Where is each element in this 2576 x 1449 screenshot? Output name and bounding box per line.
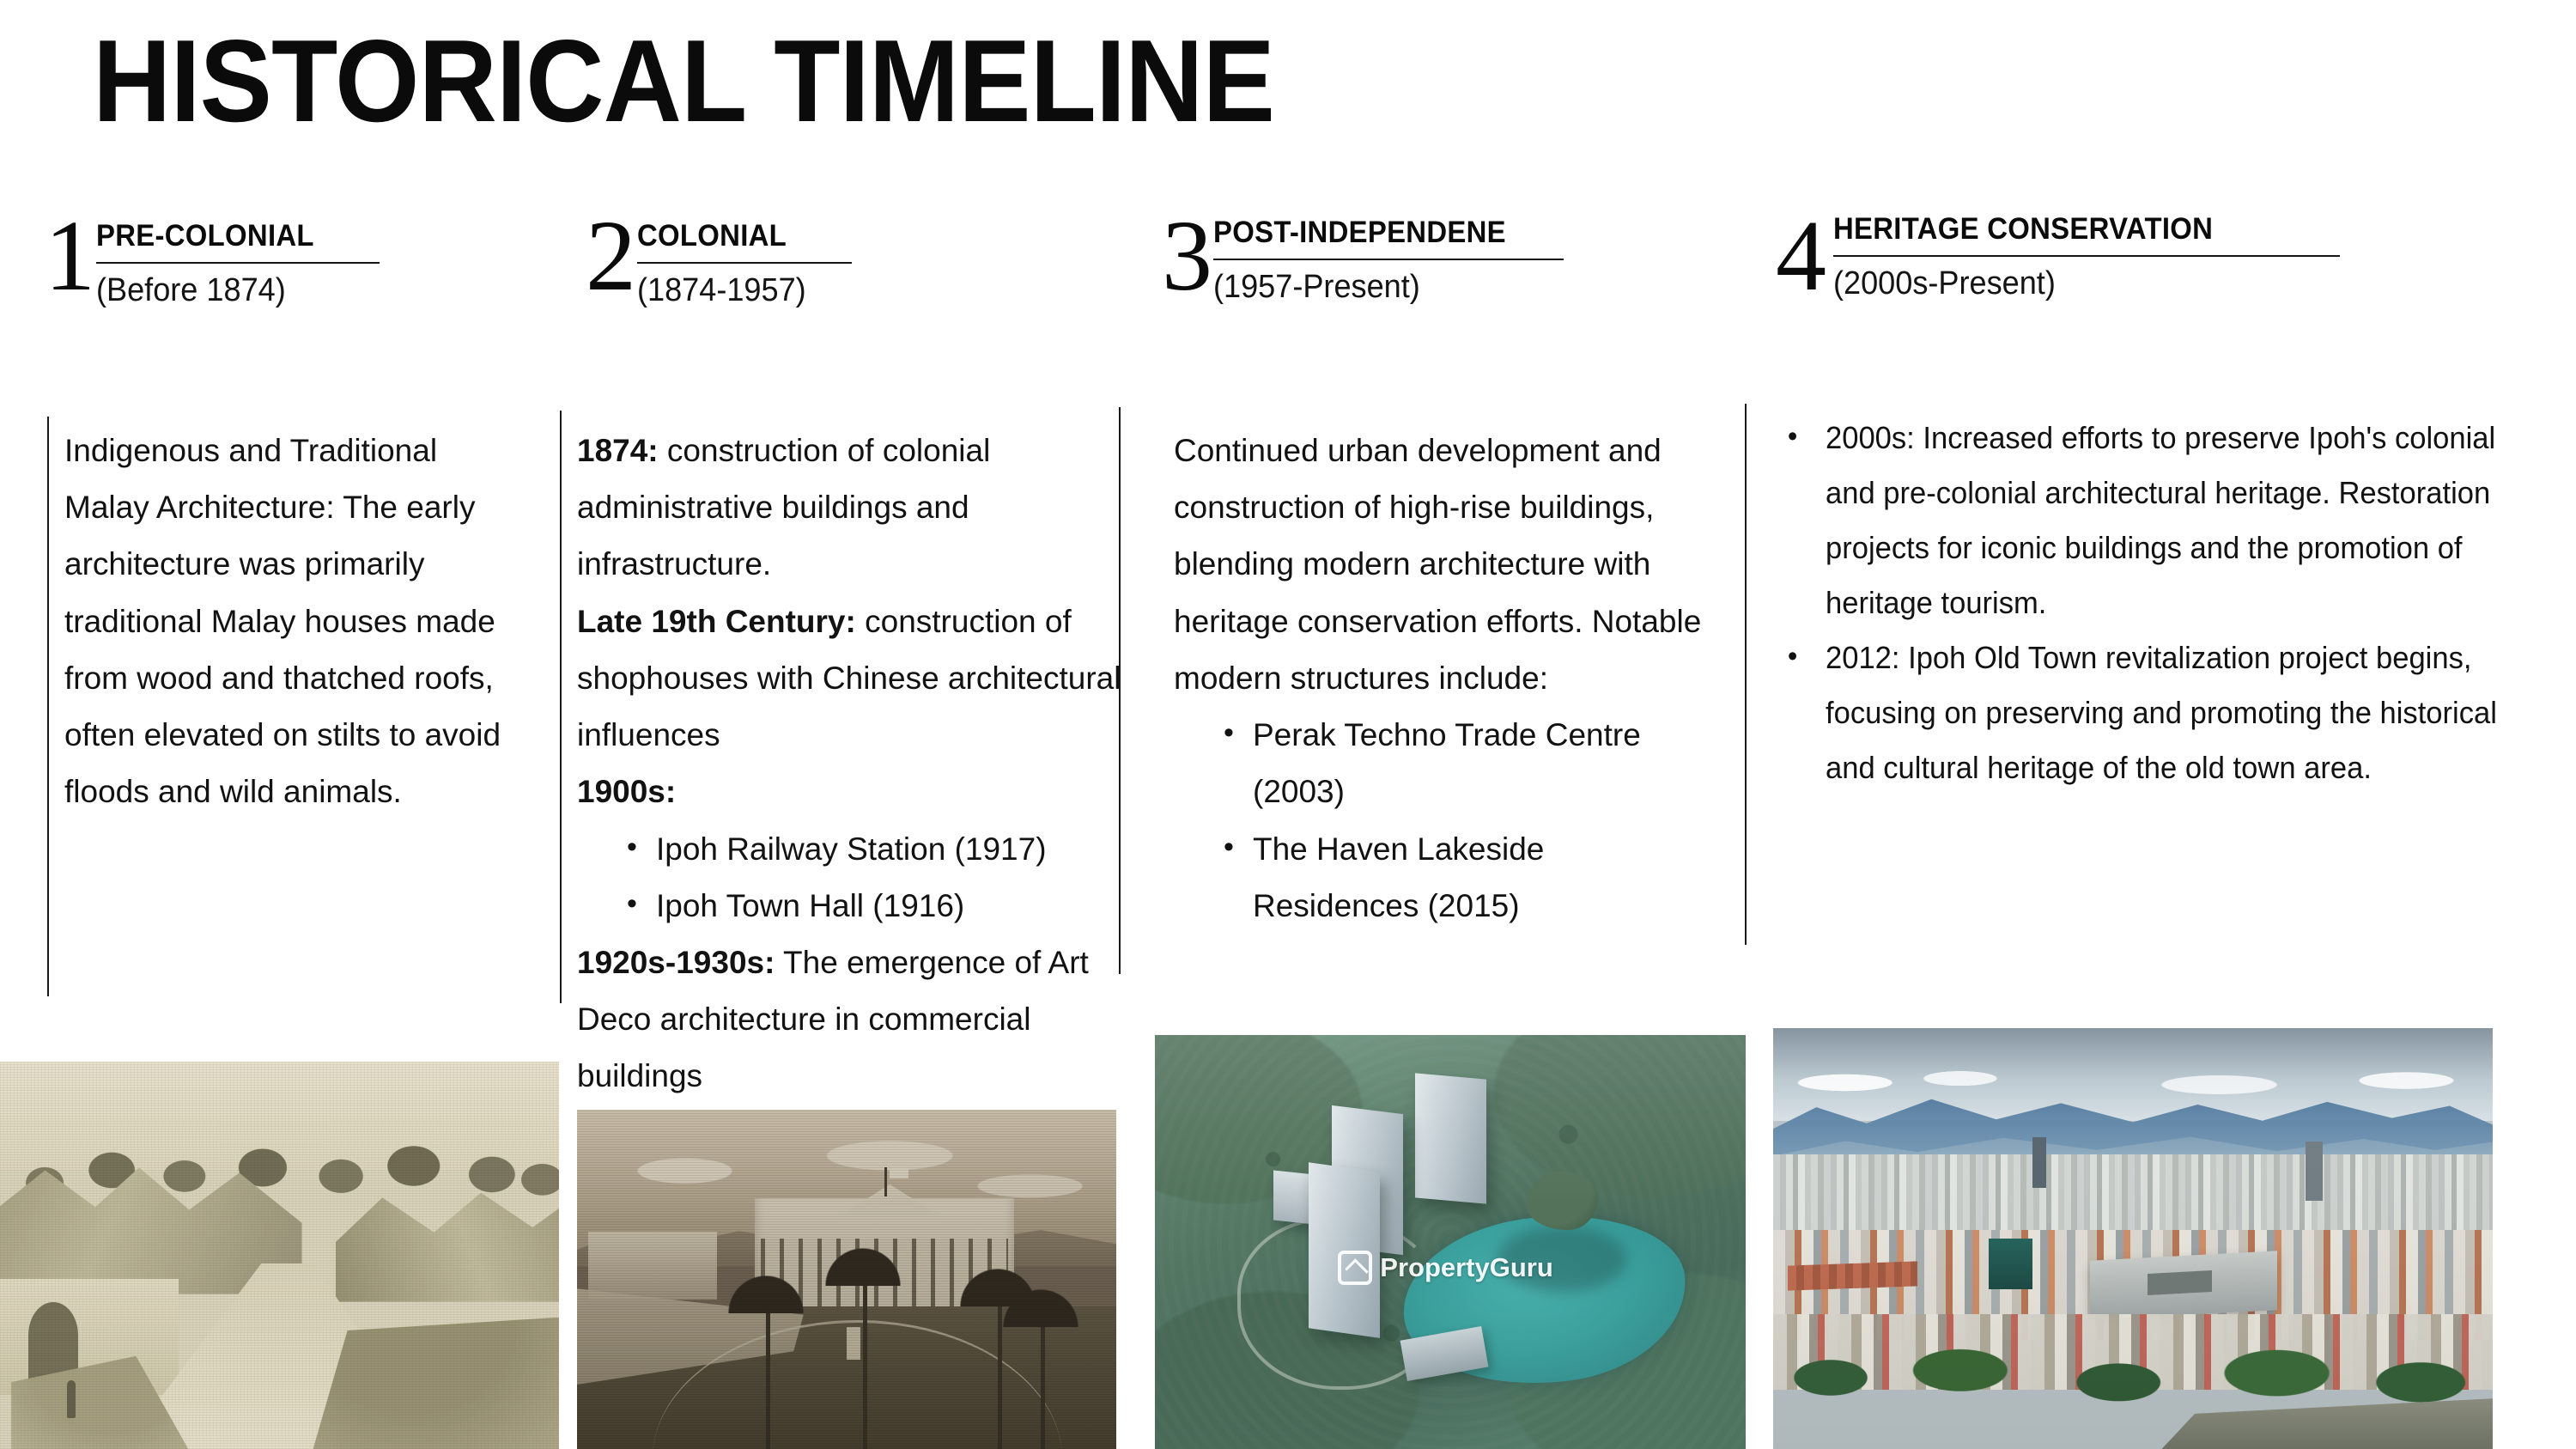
infographic-page: HISTORICAL TIMELINE 1 PRE-COLONIAL (Befo… (0, 0, 2576, 1449)
column-label-4: HERITAGE CONSERVATION (1833, 214, 2310, 253)
column-body-2: 1874: construction of colonial administr… (577, 423, 1135, 1105)
column-header-2: 2 COLONIAL (1874-1957) (577, 219, 1144, 374)
header-underline-4 (1833, 255, 2340, 257)
header-underline-3 (1213, 259, 1564, 260)
photo1-sepia-tint (0, 1062, 559, 1449)
photo-ipoh-cityscape (1773, 1028, 2493, 1449)
column-body-1: Indigenous and Traditional Malay Archite… (64, 423, 528, 821)
step-number-1: 1 (45, 205, 95, 307)
column-label-2: COLONIAL (637, 221, 839, 260)
propertyguru-logo-icon (1338, 1251, 1372, 1285)
column-date-1: (Before 1874) (96, 271, 366, 311)
header-underline-2 (637, 262, 852, 264)
photo-lakeside-residences: PropertyGuru (1155, 1035, 1746, 1449)
column-header-1: 1 PRE-COLONIAL (Before 1874) (26, 219, 584, 374)
column-label-1: PRE-COLONIAL (96, 221, 362, 260)
column-header-text-2: COLONIAL (1874-1957) (637, 221, 852, 310)
photo2-film-grain (577, 1110, 1116, 1449)
photo-pre-colonial-village (0, 1062, 559, 1449)
column-header-text-1: PRE-COLONIAL (Before 1874) (96, 221, 380, 310)
step-number-4: 4 (1776, 205, 1826, 307)
step-number-3: 3 (1162, 205, 1212, 307)
header-underline-1 (96, 262, 380, 264)
column-date-3: (1957-Present) (1213, 268, 1546, 307)
column-header-3: 3 POST-INDEPENDENE (1957-Present) (1155, 219, 1747, 374)
column-header-4: 4 HERITAGE CONSERVATION (2000s-Present) (1769, 219, 2542, 374)
propertyguru-watermark: PropertyGuru (1338, 1251, 1553, 1285)
column-date-2: (1874-1957) (637, 271, 841, 311)
photo3-atmospheric-haze (1155, 1035, 1746, 1449)
propertyguru-watermark-text: PropertyGuru (1380, 1252, 1553, 1283)
photo-colonial-town-hall (577, 1110, 1116, 1449)
column-header-text-4: HERITAGE CONSERVATION (2000s-Present) (1833, 214, 2340, 303)
photo4-atmospheric-haze (1773, 1028, 2493, 1449)
column-header-text-3: POST-INDEPENDENE (1957-Present) (1213, 217, 1564, 307)
column-label-3: POST-INDEPENDENE (1213, 217, 1543, 257)
column-date-4: (2000s-Present) (1833, 265, 2315, 304)
column-body-4: 2000s: Increased efforts to preserve Ipo… (1784, 411, 2501, 796)
step-number-2: 2 (586, 205, 636, 307)
column-body-3: Continued urban development and construc… (1174, 423, 1715, 935)
